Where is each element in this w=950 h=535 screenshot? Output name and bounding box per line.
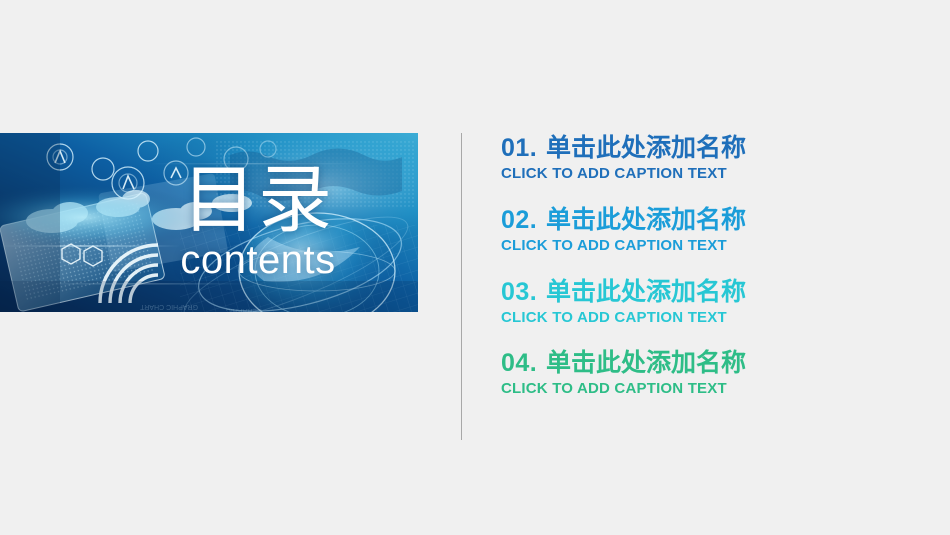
toc-caption-03: CLICK TO ADD CAPTION TEXT: [501, 309, 911, 328]
toc-title-03: 单击此处添加名称: [546, 277, 746, 306]
toc-caption-01: CLICK TO ADD CAPTION TEXT: [501, 165, 911, 184]
toc-title-01: 单击此处添加名称: [546, 133, 746, 162]
table-of-contents: 01. 单击此处添加名称 CLICK TO ADD CAPTION TEXT 0…: [501, 133, 911, 399]
toc-heading-04: 04. 单击此处添加名称: [501, 348, 911, 378]
toc-number-01: 01.: [501, 134, 537, 162]
toc-item-01[interactable]: 01. 单击此处添加名称 CLICK TO ADD CAPTION TEXT: [501, 133, 911, 184]
toc-number-03: 03.: [501, 278, 537, 306]
vertical-divider: [461, 133, 462, 440]
toc-item-02[interactable]: 02. 单击此处添加名称 CLICK TO ADD CAPTION TEXT: [501, 205, 911, 256]
toc-title-02: 单击此处添加名称: [546, 205, 746, 234]
hero-title-group: 目录 contents: [108, 133, 408, 312]
toc-heading-01: 01. 单击此处添加名称: [501, 133, 911, 163]
toc-number-04: 04.: [501, 349, 537, 377]
toc-item-04[interactable]: 04. 单击此处添加名称 CLICK TO ADD CAPTION TEXT: [501, 348, 911, 399]
hero-title: 目录: [182, 165, 334, 236]
toc-caption-04: CLICK TO ADD CAPTION TEXT: [501, 380, 911, 399]
toc-caption-02: CLICK TO ADD CAPTION TEXT: [501, 237, 911, 256]
hero-image-block: GRAPHIC CHART CERAPHIC 目录 contents: [0, 133, 418, 312]
toc-item-03[interactable]: 03. 单击此处添加名称 CLICK TO ADD CAPTION TEXT: [501, 277, 911, 328]
toc-heading-02: 02. 单击此处添加名称: [501, 205, 911, 235]
presentation-slide: GRAPHIC CHART CERAPHIC 目录 contents 01. 单…: [0, 0, 950, 535]
toc-number-02: 02.: [501, 206, 537, 234]
toc-heading-03: 03. 单击此处添加名称: [501, 277, 911, 307]
hero-subtitle: contents: [180, 240, 335, 280]
toc-title-04: 单击此处添加名称: [546, 348, 746, 377]
